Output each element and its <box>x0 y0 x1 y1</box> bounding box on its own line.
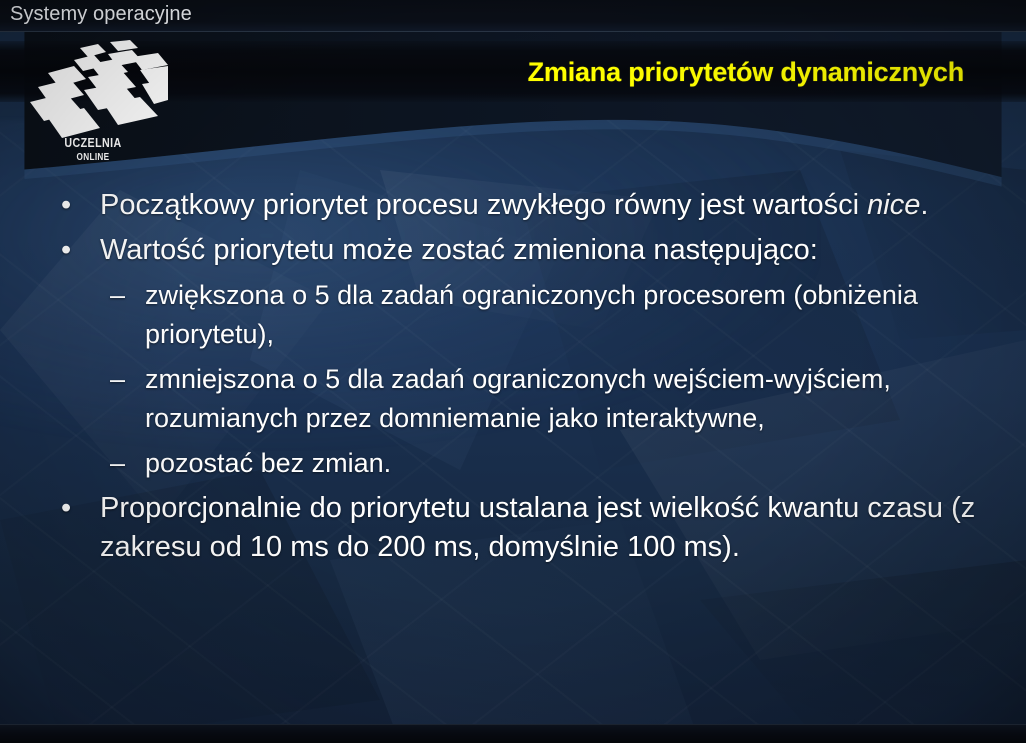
bullet-text-emphasis: nice <box>867 189 920 221</box>
slide-content: • Początkowy priorytet procesu zwykłego … <box>0 186 1026 573</box>
bullet-text-before: Początkowy priorytet procesu zwykłego ró… <box>100 189 867 221</box>
sub-bullet-text: zmniejszona o 5 dla zadań ograniczonych … <box>145 364 891 433</box>
bullet-item: • Proporcjonalnie do priorytetu ustalana… <box>0 489 1026 567</box>
bullet-text: Wartość priorytetu może zostać zmieniona… <box>100 234 818 266</box>
sub-bullet-text: pozostać bez zmian. <box>145 448 391 478</box>
bullet-marker: • <box>61 231 71 270</box>
presentation-slide: Systemy operacyjne Zmiana priorytetów dy… <box>0 0 1026 743</box>
sub-bullet-item: – zwiększona o 5 dla zadań ograniczonych… <box>0 276 1026 354</box>
logo-grid-icon <box>18 40 168 140</box>
sub-bullet-text: zwiększona o 5 dla zadań ograniczonych p… <box>145 280 918 349</box>
logo-subtitle: ONLINE <box>32 152 155 163</box>
sub-bullet-item: – pozostać bez zmian. <box>0 444 1026 483</box>
bullet-marker: • <box>61 489 71 528</box>
course-title: Systemy operacyjne <box>10 3 192 26</box>
slide-title: Zmiana priorytetów dynamicznych <box>528 57 964 88</box>
slide-footer-bar <box>0 724 1026 743</box>
uczelnia-online-logo: UCZELNIA ONLINE <box>18 40 168 170</box>
bullet-item: • Wartość priorytetu może zostać zmienio… <box>0 231 1026 270</box>
bullet-text: Proporcjonalnie do priorytetu ustalana j… <box>100 492 975 563</box>
sub-bullet-marker: – <box>110 276 125 315</box>
logo-wordmark: UCZELNIA <box>32 135 155 150</box>
sub-bullet-marker: – <box>110 360 125 399</box>
course-header-bar: Systemy operacyjne <box>0 0 1026 32</box>
bullet-marker: • <box>61 186 71 225</box>
bullet-item: • Początkowy priorytet procesu zwykłego … <box>0 186 1026 225</box>
bullet-text-after: . <box>920 189 928 221</box>
sub-bullet-marker: – <box>110 444 125 483</box>
sub-bullet-item: – zmniejszona o 5 dla zadań ograniczonyc… <box>0 360 1026 438</box>
